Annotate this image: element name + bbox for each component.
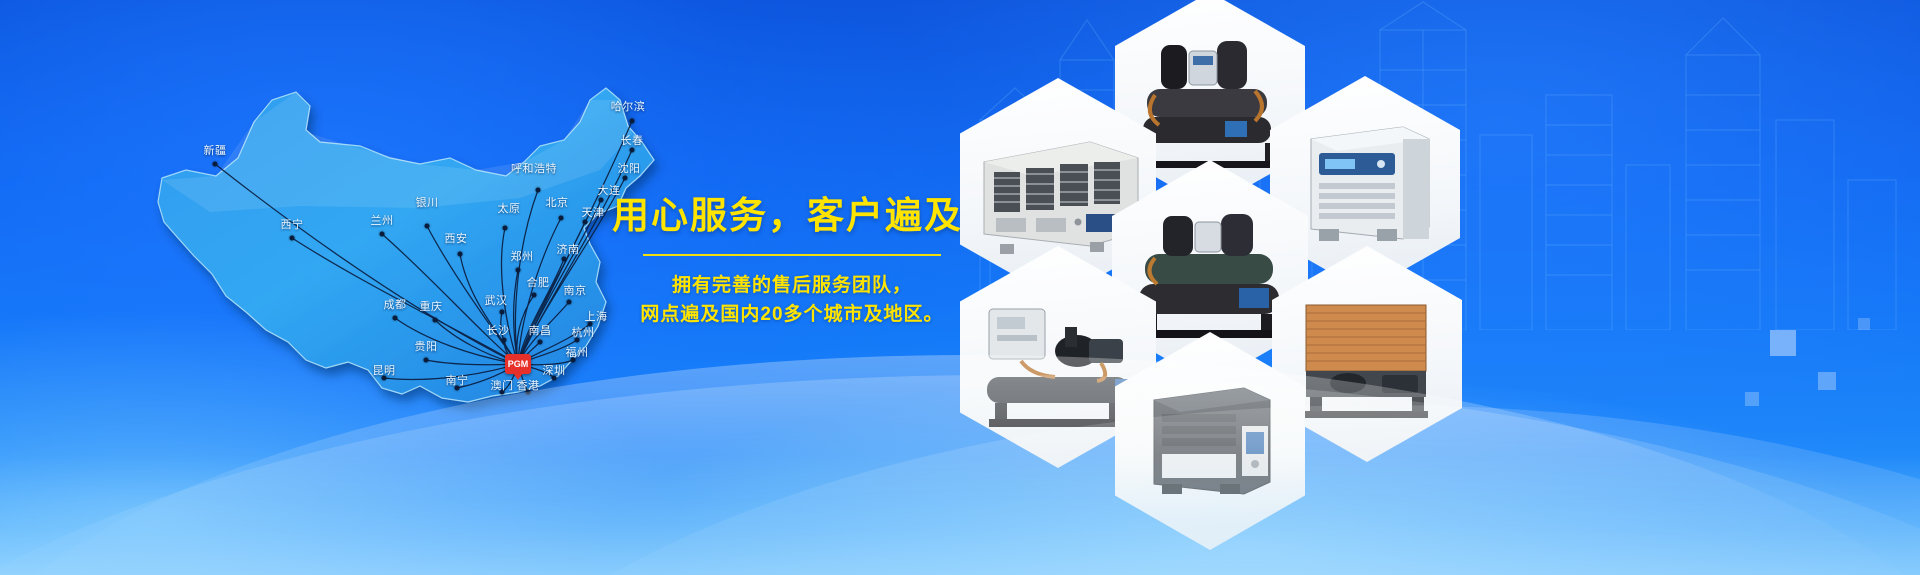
city-label: 澳门 <box>491 377 514 393</box>
city-dot[interactable] <box>502 338 507 343</box>
city-label: 济南 <box>557 241 580 257</box>
city-label: 郑州 <box>511 248 534 264</box>
city-label: 昆明 <box>373 362 396 378</box>
city-dot[interactable] <box>393 316 398 321</box>
chiller-bottom-illustration <box>1128 366 1292 516</box>
city-label: 合肥 <box>527 274 550 290</box>
headline-divider <box>643 254 941 256</box>
city-label: 天津 <box>582 204 605 220</box>
city-label: 杭州 <box>572 324 595 340</box>
city-dot[interactable] <box>630 119 635 124</box>
banner-subtext: 拥有完善的售后服务团队， 网点遍及国内20多个城市及地区。 <box>612 271 972 330</box>
city-label: 长春 <box>621 132 644 148</box>
city-label: 银川 <box>416 194 439 210</box>
product-hexagon-grid <box>960 0 1520 575</box>
city-dot[interactable] <box>623 176 628 181</box>
city-dot[interactable] <box>424 358 429 363</box>
city-dot[interactable] <box>532 293 537 298</box>
city-label: 重庆 <box>420 298 443 314</box>
city-label: 兰州 <box>371 212 394 228</box>
city-label: 上海 <box>585 308 608 324</box>
city-label: 福州 <box>566 344 589 360</box>
city-dot[interactable] <box>536 188 541 193</box>
promo-banner: 新疆西宁兰州银川太原呼和浩特北京哈尔滨长春沈阳大连天津西安郑州济南南京合肥上海杭… <box>0 0 1920 575</box>
hub-label: PGM <box>508 359 529 369</box>
city-label: 哈尔滨 <box>611 98 646 114</box>
city-dot[interactable] <box>559 216 564 221</box>
city-dot[interactable] <box>538 340 543 345</box>
city-label: 贵阳 <box>415 338 438 354</box>
city-dot[interactable] <box>458 252 463 257</box>
city-label: 北京 <box>546 194 569 210</box>
city-dot[interactable] <box>290 236 295 241</box>
city-label: 长沙 <box>487 322 510 338</box>
city-dot[interactable] <box>380 232 385 237</box>
city-dot[interactable] <box>516 268 521 273</box>
hub-marker-pgm[interactable]: PGM <box>505 354 531 374</box>
city-label: 武汉 <box>485 292 508 308</box>
chiller-cabinet-illustration <box>1285 109 1445 259</box>
city-dot[interactable] <box>425 224 430 229</box>
city-label: 太原 <box>498 200 521 216</box>
city-label: 深圳 <box>543 362 566 378</box>
condenser-coil-illustration <box>1286 279 1448 429</box>
banner-headline: 用心服务，客户遍及全国 <box>612 196 972 237</box>
city-label: 呼和浩特 <box>511 160 557 176</box>
city-dot[interactable] <box>599 198 604 203</box>
city-dot[interactable] <box>433 318 438 323</box>
city-dot[interactable] <box>503 226 508 231</box>
city-dot[interactable] <box>583 220 588 225</box>
city-dot[interactable] <box>567 300 572 305</box>
city-label: 南宁 <box>446 372 469 388</box>
subtext-line-1: 拥有完善的售后服务团队， <box>612 271 972 300</box>
city-label: 西宁 <box>281 216 304 232</box>
banner-copy-block: 用心服务，客户遍及全国 拥有完善的售后服务团队， 网点遍及国内20多个城市及地区… <box>612 196 972 330</box>
city-dot[interactable] <box>630 148 635 153</box>
city-label: 成都 <box>384 296 407 312</box>
city-label: 沈阳 <box>618 160 641 176</box>
city-label: 南京 <box>564 282 587 298</box>
city-dot[interactable] <box>500 310 505 315</box>
city-label: 西安 <box>445 230 468 246</box>
city-label: 南昌 <box>529 322 552 338</box>
subtext-line-2: 网点遍及国内20多个城市及地区。 <box>612 300 972 329</box>
city-dot[interactable] <box>562 257 567 262</box>
city-label: 新疆 <box>204 142 227 158</box>
city-dot[interactable] <box>213 162 218 167</box>
